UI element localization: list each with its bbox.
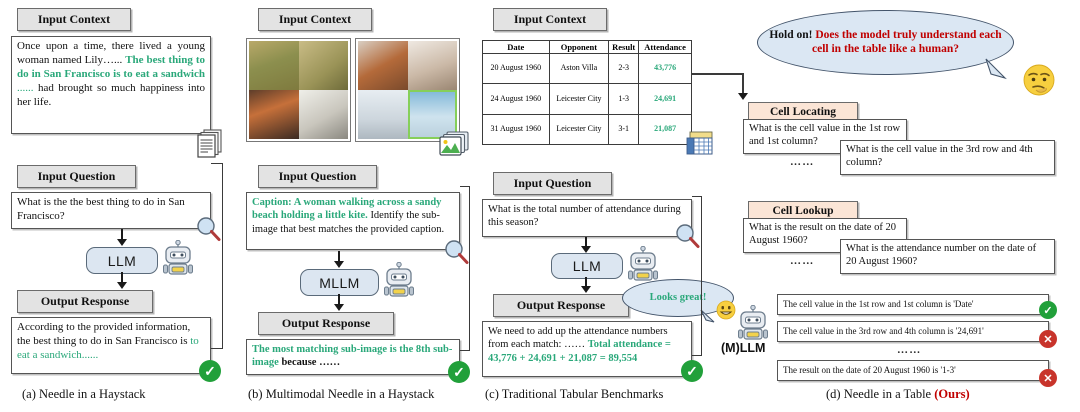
collage-image-6 bbox=[408, 41, 458, 90]
panel-d-answer-1: The cell value in the 1st row and 1st co… bbox=[778, 295, 1048, 313]
smiling-face-emoji bbox=[716, 300, 736, 320]
cross-circle-icon: ✕ bbox=[1039, 330, 1057, 348]
panel-a-arrowhead-1 bbox=[117, 239, 127, 246]
panel-b-output-tail: …… bbox=[316, 357, 340, 368]
panel-d-answer-box-2: The cell value in the 3rd row and 4th co… bbox=[777, 321, 1049, 342]
check-circle-icon: ✓ bbox=[448, 361, 470, 383]
panel-a-output-box: According to the provided information, t… bbox=[11, 317, 211, 374]
panel-a-model-pill: LLM bbox=[86, 247, 158, 274]
panel-d-cell-lookup-dots: …… bbox=[790, 255, 814, 267]
table-header-row: Date Opponent Result Attendance bbox=[483, 41, 692, 54]
cell-date: 24 August 1960 bbox=[483, 84, 550, 114]
panel-a-arrowhead-2 bbox=[117, 282, 127, 289]
cell-opponent: Aston Villa bbox=[549, 54, 609, 84]
collage-image-4 bbox=[299, 90, 349, 139]
hold-on-bubble-tail bbox=[985, 58, 1007, 80]
robot-icon bbox=[162, 240, 194, 276]
spreadsheet-icon bbox=[686, 130, 716, 158]
panel-b-connector bbox=[460, 186, 470, 351]
panel-d-caption-ours: (Ours) bbox=[934, 387, 969, 401]
table-col-date: Date bbox=[483, 41, 550, 54]
panel-d-cell-lookup-q2: What is the attendance number on the dat… bbox=[846, 243, 1036, 267]
panel-a-question-box: What is the the best thing to do in San … bbox=[11, 192, 211, 229]
thinking-face-emoji bbox=[1022, 64, 1056, 98]
robot-icon bbox=[627, 246, 659, 282]
robot-icon bbox=[737, 305, 769, 341]
panel-d-answer-3: The result on the date of 20 August 1960… bbox=[778, 361, 1048, 379]
panel-d-answers-dots: …… bbox=[897, 344, 921, 356]
panel-c-question-text: What is the total number of attendance d… bbox=[483, 200, 691, 233]
panel-b-caption: (b) Multimodal Needle in a Haystack bbox=[248, 387, 434, 402]
panel-b-arrowhead-2 bbox=[334, 304, 344, 311]
panel-d-link-arrowhead bbox=[738, 93, 748, 100]
panel-d-answer-2: The cell value in the 3rd row and 4th co… bbox=[778, 322, 1048, 340]
collage-image-2 bbox=[299, 41, 349, 90]
panel-a-question-text: What is the the best thing to do in San … bbox=[12, 193, 210, 227]
check-circle-icon: ✓ bbox=[681, 360, 703, 382]
table-row: 24 August 1960 Leicester City 1-3 24,691 bbox=[483, 84, 692, 114]
panel-d-caption: (d) Needle in a Table (Ours) bbox=[826, 387, 970, 402]
cell-result: 3-1 bbox=[609, 114, 639, 144]
panel-b-output-box: The most matching sub-image is the 8th s… bbox=[246, 339, 460, 375]
check-circle-icon: ✓ bbox=[199, 360, 221, 382]
panel-b-question-box: Caption: A woman walking across a sandy … bbox=[246, 192, 460, 250]
robot-icon bbox=[383, 262, 415, 298]
collage-image-7 bbox=[358, 90, 408, 139]
cell-date: 20 August 1960 bbox=[483, 54, 550, 84]
cell-opponent: Leicester City bbox=[549, 84, 609, 114]
attendance-table: Date Opponent Result Attendance 20 Augus… bbox=[482, 40, 692, 145]
table-col-opponent: Opponent bbox=[549, 41, 609, 54]
panel-a-question-header: Input Question bbox=[17, 165, 136, 188]
panel-a-context-header: Input Context bbox=[17, 8, 131, 31]
panel-c-model-pill: LLM bbox=[551, 253, 623, 279]
table-col-result: Result bbox=[609, 41, 639, 54]
check-circle-icon: ✓ bbox=[1039, 301, 1057, 319]
collage-image-5 bbox=[358, 41, 408, 90]
panel-c-arrowhead-1 bbox=[581, 246, 591, 253]
panel-c-context-header: Input Context bbox=[493, 8, 607, 31]
cell-result: 2-3 bbox=[609, 54, 639, 84]
hold-on-bubble-lead: Hold on! bbox=[769, 29, 815, 41]
panel-b-model-pill: MLLM bbox=[300, 269, 379, 296]
panel-d-caption-prefix: (d) Needle in a Table bbox=[826, 387, 934, 401]
panel-a-connector bbox=[211, 163, 223, 349]
cell-attendance: 21,087 bbox=[639, 114, 692, 144]
panel-c-table-wrapper: Date Opponent Result Attendance 20 Augus… bbox=[482, 40, 692, 145]
panel-c-connector bbox=[692, 196, 702, 356]
panel-d-link-vertical bbox=[742, 73, 744, 95]
panel-d-cell-locating-dots: …… bbox=[790, 156, 814, 168]
cell-attendance: 43,776 bbox=[639, 54, 692, 84]
looks-great-bubble-tail bbox=[700, 309, 716, 323]
collage-image-1 bbox=[249, 41, 299, 90]
panel-c-caption: (c) Traditional Tabular Benchmarks bbox=[485, 387, 663, 402]
panel-b-context-header: Input Context bbox=[258, 8, 372, 31]
table-row: 31 August 1960 Leicester City 3-1 21,087 bbox=[483, 114, 692, 144]
table-row: 20 August 1960 Aston Villa 2-3 43,776 bbox=[483, 54, 692, 84]
panel-d-cell-locating-q2: What is the cell value in the 3rd row an… bbox=[846, 144, 1033, 168]
panel-a-needle-tail: ...... bbox=[17, 82, 34, 94]
panel-a-context-box: Once upon a time, there lived a young wo… bbox=[11, 36, 211, 134]
cell-result: 1-3 bbox=[609, 84, 639, 114]
collage-image-3 bbox=[249, 90, 299, 139]
cell-opponent: Leicester City bbox=[549, 114, 609, 144]
panel-a-caption: (a) Needle in a Haystack bbox=[22, 387, 146, 402]
panel-d-cell-lookup-q2-box: What is the attendance number on the dat… bbox=[840, 239, 1055, 274]
panel-a-output-text: According to the provided information, t… bbox=[17, 321, 190, 347]
panel-b-arrowhead-1 bbox=[334, 261, 344, 268]
panel-b-output-header: Output Response bbox=[258, 312, 394, 335]
panel-c-question-header: Input Question bbox=[493, 172, 612, 195]
panel-c-output-box: We need to add up the attendance numbers… bbox=[482, 321, 692, 377]
documents-stack-icon bbox=[196, 127, 224, 159]
cross-circle-icon: ✕ bbox=[1039, 369, 1057, 387]
panel-d-table-link bbox=[692, 73, 744, 75]
panel-a-output-header: Output Response bbox=[17, 290, 153, 313]
panel-a-context-text-2: had brought so much happiness into her l… bbox=[17, 82, 205, 108]
panel-d-answer-box-3: The result on the date of 20 August 1960… bbox=[777, 360, 1049, 381]
cell-attendance: 24,691 bbox=[639, 84, 692, 114]
panel-c-output-header: Output Response bbox=[493, 294, 629, 317]
panel-b-output-because: because bbox=[279, 357, 317, 368]
hold-on-bubble-emph: Does the model truly understand each cel… bbox=[812, 29, 1002, 55]
images-stack-icon bbox=[438, 130, 470, 160]
panel-b-collage-left bbox=[246, 38, 351, 142]
cell-date: 31 August 1960 bbox=[483, 114, 550, 144]
panel-b-collage-right bbox=[355, 38, 460, 142]
panel-d-cell-locating-q2-box: What is the cell value in the 3rd row an… bbox=[840, 140, 1055, 175]
panel-b-question-header: Input Question bbox=[258, 165, 377, 188]
panel-d-answer-box-1: The cell value in the 1st row and 1st co… bbox=[777, 294, 1049, 315]
panel-c-arrowhead-2 bbox=[581, 286, 591, 293]
panel-d-model-label: (M)LLM bbox=[721, 341, 765, 355]
panel-c-question-box: What is the total number of attendance d… bbox=[482, 199, 692, 237]
hold-on-bubble: Hold on! Does the model truly understand… bbox=[757, 10, 1014, 75]
table-col-attendance: Attendance bbox=[639, 41, 692, 54]
